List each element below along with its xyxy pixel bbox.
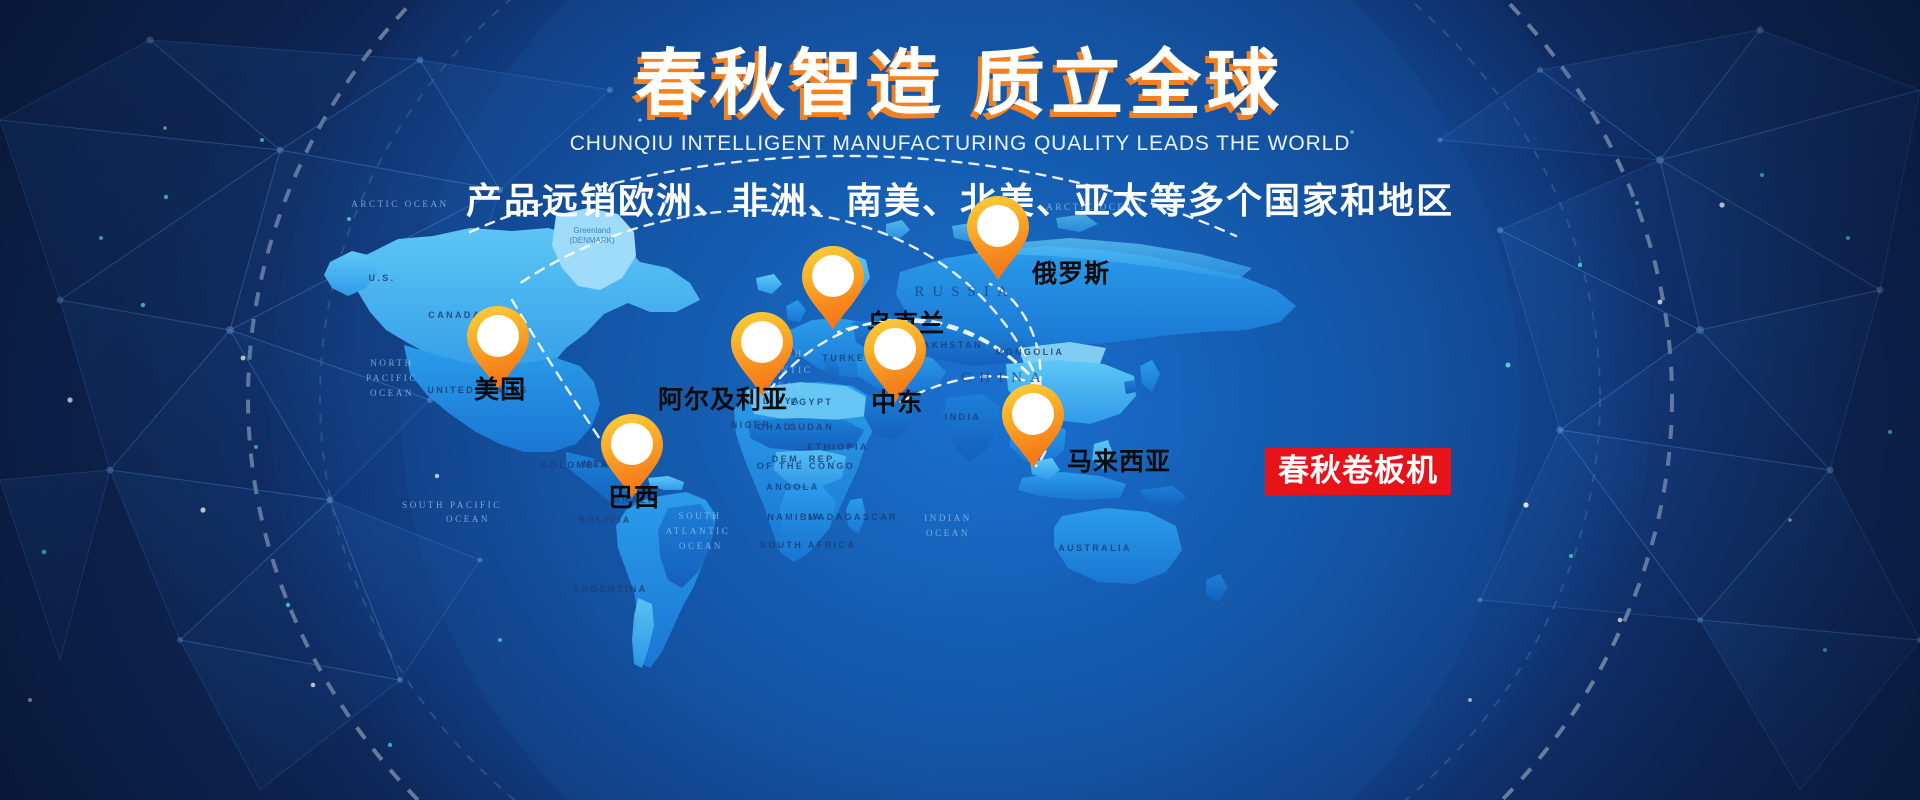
location-pin-icon bbox=[1001, 382, 1065, 470]
map-marker-algeria[interactable]: 阿尔及利亚 bbox=[730, 310, 794, 398]
map-marker-ukraine[interactable]: 乌克兰 bbox=[801, 244, 865, 332]
map-marker-middleeast[interactable]: 中东 bbox=[863, 317, 927, 405]
map-marker-russia[interactable]: 俄罗斯 bbox=[966, 194, 1030, 282]
marker-label-brazil: 巴西 bbox=[608, 486, 660, 511]
location-pin-icon bbox=[801, 244, 865, 332]
marker-label-malaysia: 马来西亚 bbox=[1067, 450, 1171, 475]
marker-label-middleeast: 中东 bbox=[871, 391, 923, 416]
brand-badge[interactable]: 春秋卷板机 bbox=[1265, 448, 1451, 495]
map-marker-brazil[interactable]: 巴西 bbox=[600, 412, 664, 500]
banner-root: ARCTIC OCEANARCTIC OCEANNORTHPACIFICOCEA… bbox=[0, 0, 1920, 800]
marker-layer: 美国 巴西 阿尔及利亚 乌克兰 bbox=[0, 0, 1920, 800]
location-pin-icon bbox=[730, 310, 794, 398]
marker-label-usa: 美国 bbox=[474, 378, 526, 403]
marker-label-algeria: 阿尔及利亚 bbox=[658, 388, 788, 413]
map-marker-malaysia[interactable]: 马来西亚 bbox=[1001, 382, 1065, 470]
marker-label-russia: 俄罗斯 bbox=[1032, 262, 1110, 287]
map-marker-usa[interactable]: 美国 bbox=[466, 304, 530, 392]
location-pin-icon bbox=[966, 194, 1030, 282]
